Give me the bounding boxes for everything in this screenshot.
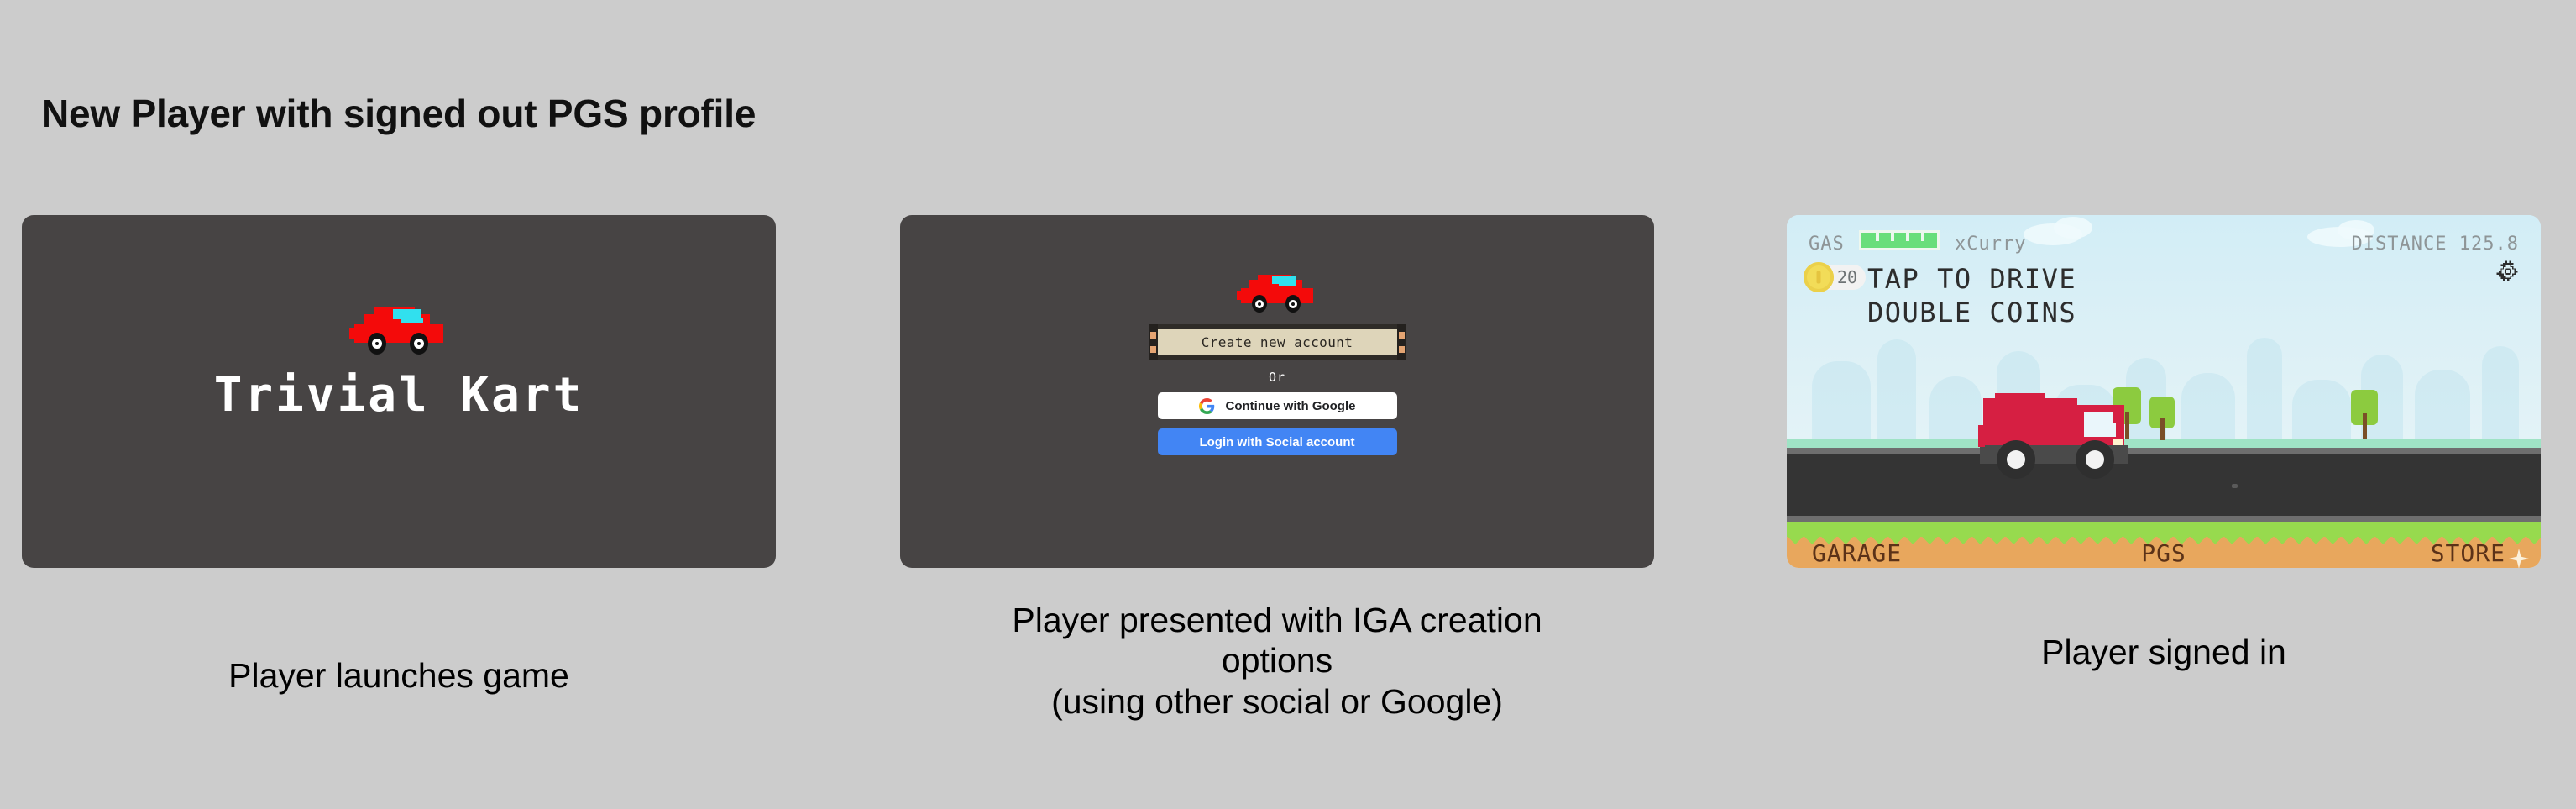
continue-with-google-label: Continue with Google — [1226, 399, 1356, 413]
bottom-nav: GARAGE PGS STORE — [1787, 538, 2541, 568]
pixel-car-icon — [1237, 271, 1317, 313]
or-divider-label: Or — [1269, 370, 1285, 385]
continue-with-google-button[interactable]: Continue with Google — [1158, 392, 1397, 419]
game-splash: Trivial Kart — [22, 302, 776, 423]
pixel-button-right-cap — [1397, 324, 1406, 360]
nav-item-garage[interactable]: GARAGE — [1812, 539, 1902, 567]
pixel-truck-icon — [1978, 393, 2134, 482]
coin-icon — [1804, 262, 1834, 292]
panel-player-signed-in: GAS xCurry DISTANCE 125.8 20 TAP TO DRIV… — [1787, 215, 2541, 568]
caption-panel-2: Player presented with IGA creation optio… — [900, 600, 1654, 722]
center-message: TAP TO DRIVE DOUBLE COINS — [1867, 262, 2076, 329]
gas-bar — [1859, 230, 1940, 250]
road-edge-top — [1787, 448, 2541, 454]
page-title: New Player with signed out PGS profile — [41, 91, 756, 136]
caption-panel-3: Player signed in — [1787, 632, 2541, 672]
nav-item-pgs[interactable]: PGS — [2141, 539, 2186, 567]
login-with-social-account-button[interactable]: Login with Social account — [1158, 428, 1397, 455]
distance-value: 125.8 — [2459, 234, 2519, 255]
username-label: xCurry — [1955, 234, 2026, 255]
tree-icon — [2149, 397, 2175, 440]
gear-icon[interactable] — [2495, 259, 2521, 284]
create-new-account-button[interactable]: Create new account — [1158, 324, 1397, 360]
nav-item-store[interactable]: STORE — [2431, 539, 2505, 567]
caption-line-3: (using other social or Google) — [900, 681, 1654, 722]
road-surface — [1787, 454, 2541, 516]
create-new-account-label: Create new account — [1202, 334, 1353, 350]
game-title: Trivial Kart — [22, 368, 776, 423]
caption-line-2: options — [900, 640, 1654, 680]
google-logo-icon — [1199, 398, 1215, 414]
panel-player-launches-game: Trivial Kart — [22, 215, 776, 568]
caption-panel-1: Player launches game — [22, 655, 776, 696]
center-message-line-1: TAP TO DRIVE — [1867, 262, 2076, 296]
pixel-button-left-cap — [1149, 324, 1158, 360]
road-edge-bottom — [1787, 516, 2541, 522]
pixel-car-icon — [349, 302, 448, 355]
coin-counter: 20 — [1804, 262, 1866, 292]
coin-amount: 20 — [1837, 267, 1857, 287]
caption-line-1: Player presented with IGA creation — [900, 600, 1654, 640]
login-with-social-account-label: Login with Social account — [1199, 435, 1354, 449]
distance-text: DISTANCE — [2352, 234, 2448, 255]
gas-label: GAS — [1809, 234, 1845, 255]
tree-icon — [2351, 390, 2378, 439]
distance-label: DISTANCE 125.8 — [2352, 234, 2519, 255]
panel-iga-creation-options: Create new account Or Continue with Goog… — [900, 215, 1654, 568]
center-message-line-2: DOUBLE COINS — [1867, 296, 2076, 329]
sparkle-icon — [2509, 549, 2529, 568]
